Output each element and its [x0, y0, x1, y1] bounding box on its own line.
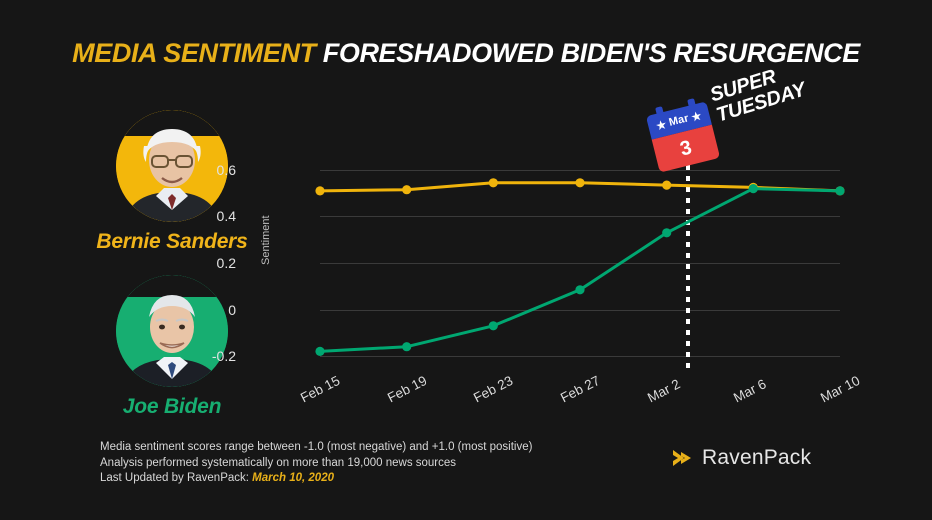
calendar-month-label: Mar [668, 112, 690, 129]
title-highlight: MEDIA SENTIMENT [72, 38, 316, 68]
y-axis-title: Sentiment [260, 215, 272, 265]
data-point [315, 186, 324, 195]
data-point [575, 178, 584, 187]
y-axis-tick-label: 0.2 [196, 255, 236, 271]
calendar-icon: ★ Mar ★ 3 [646, 101, 720, 172]
y-axis-tick-label: 0.4 [196, 208, 236, 224]
footnote-line-2: Analysis performed systematically on mor… [100, 456, 532, 472]
data-point [575, 285, 584, 294]
y-axis-tick-label: -0.2 [196, 348, 236, 364]
last-updated-date: March 10, 2020 [252, 472, 334, 484]
y-axis-tick-label: 0.6 [196, 162, 236, 178]
candidate-name-sanders: Bernie Sanders [72, 230, 272, 254]
star-left-icon: ★ [655, 117, 668, 132]
joe-biden-portrait [116, 275, 228, 387]
candidate-name-biden: Joe Biden [72, 395, 272, 419]
sentiment-line-chart: Sentiment -0.200.20.40.6Feb 15Feb 19Feb … [266, 140, 866, 390]
joe-biden-avatar-icon [116, 275, 228, 387]
footnote-line-3: Last Updated by RavenPack: March 10, 202… [100, 471, 532, 487]
data-point [489, 178, 498, 187]
series-layer [320, 156, 840, 370]
ravenpack-logo: RavenPack [672, 446, 811, 470]
last-updated-label: Last Updated by RavenPack: [100, 472, 252, 484]
data-point [402, 185, 411, 194]
x-axis-tick-label: Mar 2 [645, 376, 683, 405]
candidate-card-biden: Joe Biden [72, 275, 272, 419]
candidate-card-sanders: Bernie Sanders [72, 110, 272, 254]
series-line [320, 189, 840, 352]
super-tuesday-annotation: ★ Mar ★ 3 SUPER TUESDAY [640, 78, 840, 168]
data-point [315, 347, 324, 356]
chart-plot-area: -0.200.20.40.6Feb 15Feb 19Feb 23Feb 27Ma… [320, 156, 840, 370]
data-point [662, 228, 671, 237]
data-point [662, 181, 671, 190]
data-point [489, 321, 498, 330]
super-tuesday-label: SUPER TUESDAY [708, 59, 808, 126]
x-axis-tick-label: Feb 23 [471, 373, 515, 405]
infographic-root: MEDIA SENTIMENT FORESHADOWED BIDEN'S RES… [0, 0, 932, 520]
star-right-icon: ★ [690, 109, 703, 124]
data-point [402, 342, 411, 351]
data-point [835, 186, 844, 195]
x-axis-tick-label: Feb 19 [385, 373, 429, 405]
x-axis-tick-label: Feb 15 [298, 373, 342, 405]
x-axis-tick-label: Mar 10 [818, 373, 862, 405]
ravenpack-chevron-icon [672, 449, 694, 467]
x-axis-tick-label: Feb 27 [558, 373, 602, 405]
y-axis-tick-label: 0 [196, 302, 236, 318]
data-point [749, 184, 758, 193]
footnote-line-1: Media sentiment scores range between -1.… [100, 440, 532, 456]
footnote: Media sentiment scores range between -1.… [100, 440, 532, 487]
x-axis-tick-label: Mar 6 [731, 376, 769, 405]
ravenpack-wordmark: RavenPack [702, 446, 811, 470]
